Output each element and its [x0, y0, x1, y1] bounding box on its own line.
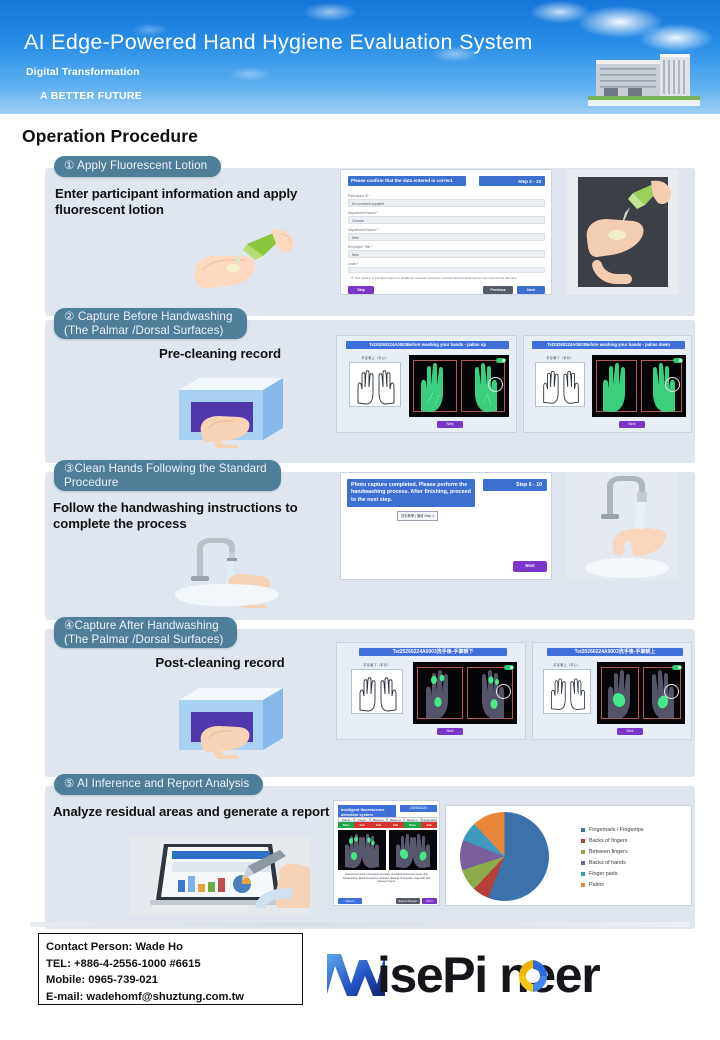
- capture-toggle[interactable]: [496, 358, 506, 363]
- report-result-5: Fail: [421, 822, 437, 828]
- report-result-4: Pass: [404, 822, 421, 828]
- live-preview: [409, 355, 509, 417]
- message-next-button[interactable]: Next: [513, 561, 547, 572]
- hand-guide-diagram: [351, 669, 403, 714]
- field-input-4[interactable]: [348, 267, 545, 273]
- field-input-3[interactable]: New: [348, 250, 545, 258]
- message-text: Photo capture completed. Please perform …: [347, 479, 475, 507]
- form-step-chip: Step 2 - 10: [479, 176, 545, 186]
- legend-label: Between fingers: [589, 849, 628, 855]
- field-label-1: Department Name *: [348, 211, 378, 215]
- legend-swatch-icon: [581, 883, 585, 887]
- hands-outline-icon: [536, 363, 586, 408]
- legend-item: Finger pads: [581, 868, 644, 879]
- step-2-caption: Pre-cleaning record: [105, 346, 335, 361]
- step-1-caption: Enter participant information and apply …: [55, 186, 335, 218]
- poster-page: AI Edge-Powered Hand Hygiene Evaluation …: [0, 0, 720, 1040]
- contact-person: Contact Person: Wade Ho: [46, 939, 295, 956]
- legend-item: Backs of fingers: [581, 835, 644, 846]
- step-3-caption: Follow the handwashing instructions to c…: [53, 500, 338, 532]
- live-preview: [592, 355, 686, 417]
- live-preview: [413, 662, 517, 724]
- capture-title: Tst20260224A0003Before washing your hand…: [532, 341, 685, 349]
- legend-item: Backs of hands: [581, 857, 644, 868]
- contact-mobile: Mobile: 0965-739-021: [46, 972, 295, 989]
- legend-swatch-icon: [581, 861, 585, 865]
- form-header: Please confirm that the data entered is …: [348, 176, 466, 186]
- guide-label: 手掌朝上（手心）: [543, 663, 591, 667]
- report-image-left: [338, 830, 386, 870]
- field-input-0[interactable]: No numbers supplied: [348, 199, 545, 207]
- pie-chart: [460, 812, 549, 901]
- capture-next-button[interactable]: Next: [617, 728, 643, 735]
- legend-item: Fingernails / Fingertips: [581, 824, 644, 835]
- report-date-chip: 2026/02/24: [400, 805, 437, 812]
- hand-guide-diagram: [535, 362, 585, 407]
- guide-wrap: 手掌朝下（手背）: [351, 669, 403, 714]
- factory-building-icon: [588, 48, 700, 106]
- hands-outline-icon: [350, 363, 402, 408]
- step-4-title: ④Capture After Handwashing (The Palmar /…: [54, 617, 237, 648]
- legend-label: Backs of hands: [589, 860, 626, 866]
- laptop-dashboard-photo: [130, 836, 310, 916]
- legend-swatch-icon: [581, 828, 585, 832]
- hand-guide-diagram: [349, 362, 401, 407]
- legend-swatch-icon: [581, 839, 585, 843]
- hand-guide-diagram: [543, 669, 591, 714]
- guide-wrap: 手掌朝下（手背）: [535, 362, 585, 407]
- page-title: Operation Procedure: [22, 126, 198, 147]
- report-return-button[interactable]: Return: [338, 898, 362, 904]
- report-result-1: Fail: [354, 822, 370, 828]
- form-previous-button[interactable]: Previous: [483, 286, 513, 294]
- banner-title: AI Edge-Powered Hand Hygiene Evaluation …: [24, 30, 533, 55]
- residual-hands-report-icon: [389, 830, 437, 870]
- guide-wrap: 手掌朝上（手心）: [349, 362, 401, 407]
- guide-label: 手掌朝下（手背）: [535, 356, 585, 360]
- report-result-0: Pass: [338, 822, 354, 828]
- guide-label: 手掌朝下（手背）: [351, 663, 403, 667]
- header-banner: AI Edge-Powered Hand Hygiene Evaluation …: [0, 0, 720, 114]
- report-image-right: [389, 830, 437, 870]
- legend-label: Finger pads: [589, 871, 617, 877]
- guide-label: 手掌朝上（手心）: [349, 356, 401, 360]
- uv-light-box-icon: [165, 370, 295, 448]
- legend-swatch-icon: [581, 850, 585, 854]
- focus-ring-indicator: [496, 684, 511, 699]
- washing-hands-photo: [567, 472, 679, 580]
- legend-label: Backs of fingers: [589, 838, 627, 844]
- step-3-title: ③Clean Hands Following the Standard Proc…: [54, 460, 281, 491]
- banner-subtitle-1: Digital Transformation: [26, 66, 140, 78]
- legend-item: Palms: [581, 879, 644, 890]
- report-footer-text: Assessment result / AI analysis summary …: [334, 873, 439, 884]
- focus-ring-indicator: [488, 377, 503, 392]
- pie-chart-panel: Fingernails / FingertipsBacks of fingers…: [445, 805, 692, 906]
- washing-hands-photo-icon: [567, 472, 679, 580]
- step-1-title: ① Apply Fluorescent Lotion: [54, 156, 221, 177]
- legend-item: Between fingers: [581, 846, 644, 857]
- message-step-chip: Step 6 - 10: [483, 479, 547, 491]
- report-export-button[interactable]: Export Report: [396, 898, 420, 904]
- capture-screen-before-palms-down: Tst20260224A0003Before washing your hand…: [523, 335, 692, 433]
- step-5-title: ⑤ AI Inference and Report Analysis: [54, 774, 263, 795]
- field-input-1[interactable]: Choose: [348, 216, 545, 224]
- hands-outline-icon: [352, 670, 404, 715]
- report-print-button[interactable]: Print: [422, 898, 437, 904]
- live-preview: [597, 662, 685, 724]
- capture-toggle[interactable]: [504, 665, 514, 670]
- report-result-3: Fail: [387, 822, 404, 828]
- step-5-caption: Analyze residual areas and generate a re…: [53, 804, 338, 820]
- lotion-photo: [567, 169, 679, 295]
- form-skip-button[interactable]: Skip: [348, 286, 374, 294]
- laptop-dashboard-icon: [130, 836, 310, 916]
- report-panel: Intelligent fluorescence detection syste…: [333, 800, 440, 906]
- legend-swatch-icon: [581, 872, 585, 876]
- pie-chart-legend: Fingernails / FingertipsBacks of fingers…: [581, 824, 644, 890]
- focus-ring-indicator: [664, 684, 679, 699]
- field-label-4: Level *: [348, 262, 358, 266]
- residual-hands-report-icon: [338, 830, 386, 870]
- report-result-2: Fail: [370, 822, 387, 828]
- contact-email: E-mail: wadehomf@shuztung.com.tw: [46, 989, 295, 1006]
- logo-wordmark: isePi neer: [377, 946, 599, 1004]
- uv-light-box-icon: [165, 679, 295, 759]
- field-input-2[interactable]: New: [348, 233, 545, 241]
- legend-label: Palms: [589, 882, 604, 888]
- guide-wrap: 手掌朝上（手心）: [543, 669, 591, 714]
- contact-tel: TEL: +886-4-2556-1000 #6615: [46, 956, 295, 973]
- field-label-3: Employee Title *: [348, 245, 373, 249]
- message-small-note: 洗手教學 | 播放 Step 1: [397, 511, 438, 521]
- legend-label: Fingernails / Fingertips: [589, 827, 644, 833]
- focus-ring-indicator: [665, 377, 680, 392]
- step-4-caption: Post-cleaning record: [105, 655, 335, 670]
- circular-arrow-icon: [513, 956, 553, 996]
- capture-screen-before-palms-up: Tst20260224A0003Before washing your hand…: [336, 335, 517, 433]
- hand-with-lotion-bottle-icon: [185, 226, 305, 296]
- step-2-title: ② Capture Before Handwashing (The Palmar…: [54, 308, 247, 339]
- capture-screen-after-palms-down: Tst20260224A0003洗手後-手掌朝下 手掌朝下（手背）: [336, 642, 526, 740]
- footer-divider: [30, 922, 690, 927]
- capture-toggle[interactable]: [672, 665, 682, 670]
- capture-title: Tst20260224A0003洗手後-手掌朝上: [547, 648, 683, 656]
- step-3-message-panel: Photo capture completed. Please perform …: [340, 472, 552, 580]
- capture-next-button[interactable]: Next: [437, 421, 463, 428]
- capture-next-button[interactable]: Next: [619, 421, 645, 428]
- hand-receiving-lotion-photo-icon: [567, 169, 679, 295]
- banner-subtitle-2: A BETTER FUTURE: [40, 90, 142, 102]
- form-note: ※ This system is intended solely for aca…: [351, 276, 543, 280]
- form-next-button[interactable]: Next: [517, 286, 545, 294]
- hands-outline-icon: [544, 670, 592, 715]
- faucet-washing-hands-icon: [145, 532, 305, 608]
- capture-title: Tst20260224A0003洗手後-手掌朝下: [359, 648, 507, 656]
- field-label-0: Participant ID *: [348, 194, 371, 198]
- company-logo: isePi neer: [325, 944, 690, 1006]
- field-label-2: Department Name *: [348, 228, 378, 232]
- capture-toggle[interactable]: [673, 358, 683, 363]
- capture-title: Tst20260224A0003Before washing your hand…: [346, 341, 509, 349]
- step-1-form-panel: Please confirm that the data entered is …: [340, 169, 552, 295]
- capture-next-button[interactable]: Next: [437, 728, 463, 735]
- contact-box: Contact Person: Wade Ho TEL: +886-4-2556…: [38, 933, 303, 1005]
- capture-screen-after-palms-up: Tst20260224A0003洗手後-手掌朝上 手掌朝上（手心）: [532, 642, 692, 740]
